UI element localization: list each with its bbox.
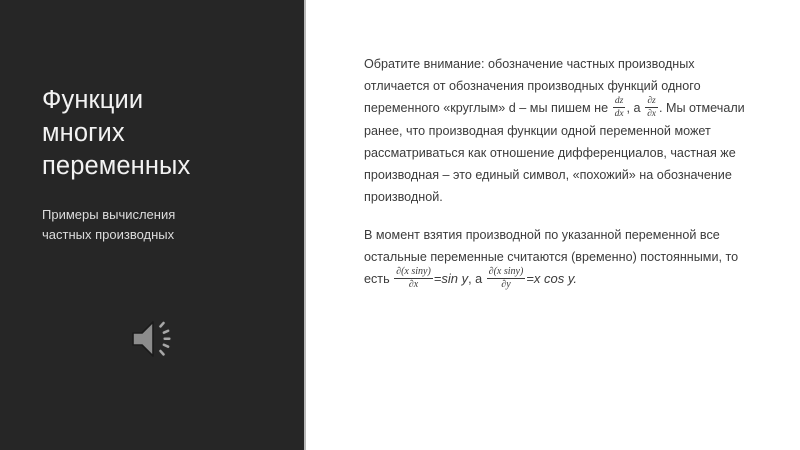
fraction-numerator: dz <box>613 96 625 108</box>
left-title-panel: Функции многих переменных Примеры вычисл… <box>0 0 304 450</box>
result-x-cos-y: x cos y <box>534 271 574 286</box>
speaker-audio-icon[interactable] <box>129 316 181 362</box>
slide-canvas: Функции многих переменных Примеры вычисл… <box>0 0 800 450</box>
fraction-partial-xsiny-partial-x: ∂(x siny)∂x <box>394 267 433 291</box>
paragraph-2-equals-2: = <box>526 271 534 286</box>
fraction-denominator: ∂x <box>407 279 420 290</box>
fraction-denominator: ∂x <box>645 108 658 119</box>
fraction-numerator: ∂z <box>645 96 657 108</box>
paragraph-1-text-3: . Мы отмечали ранее, что производная фун… <box>364 101 745 204</box>
fraction-dz-dx: dzdx <box>613 96 626 119</box>
fraction-numerator: ∂(x siny) <box>487 267 526 279</box>
paragraph-2-period: . <box>573 271 577 286</box>
fraction-denominator: dx <box>613 108 626 119</box>
paragraph-2-text-2: , а <box>468 272 486 286</box>
body-paragraph-2: В момент взятия производной по указанной… <box>364 224 746 292</box>
page-subtitle: Примеры вычисления частных производных <box>42 205 292 244</box>
result-sin-y: sin y <box>441 271 468 286</box>
body-content-panel: Обратите внимание: обозначение частных п… <box>364 53 746 292</box>
fraction-partial-xsiny-partial-y: ∂(x siny)∂y <box>487 267 526 291</box>
body-paragraph-1: Обратите внимание: обозначение частных п… <box>364 53 746 208</box>
panel-divider <box>304 0 306 450</box>
paragraph-1-text-2: , а <box>627 101 645 115</box>
page-title: Функции многих переменных <box>42 84 292 183</box>
title-block: Функции многих переменных Примеры вычисл… <box>42 84 292 244</box>
fraction-numerator: ∂(x siny) <box>394 267 433 279</box>
fraction-denominator: ∂y <box>499 279 512 290</box>
fraction-partial-z-partial-x: ∂z∂x <box>645 96 658 119</box>
